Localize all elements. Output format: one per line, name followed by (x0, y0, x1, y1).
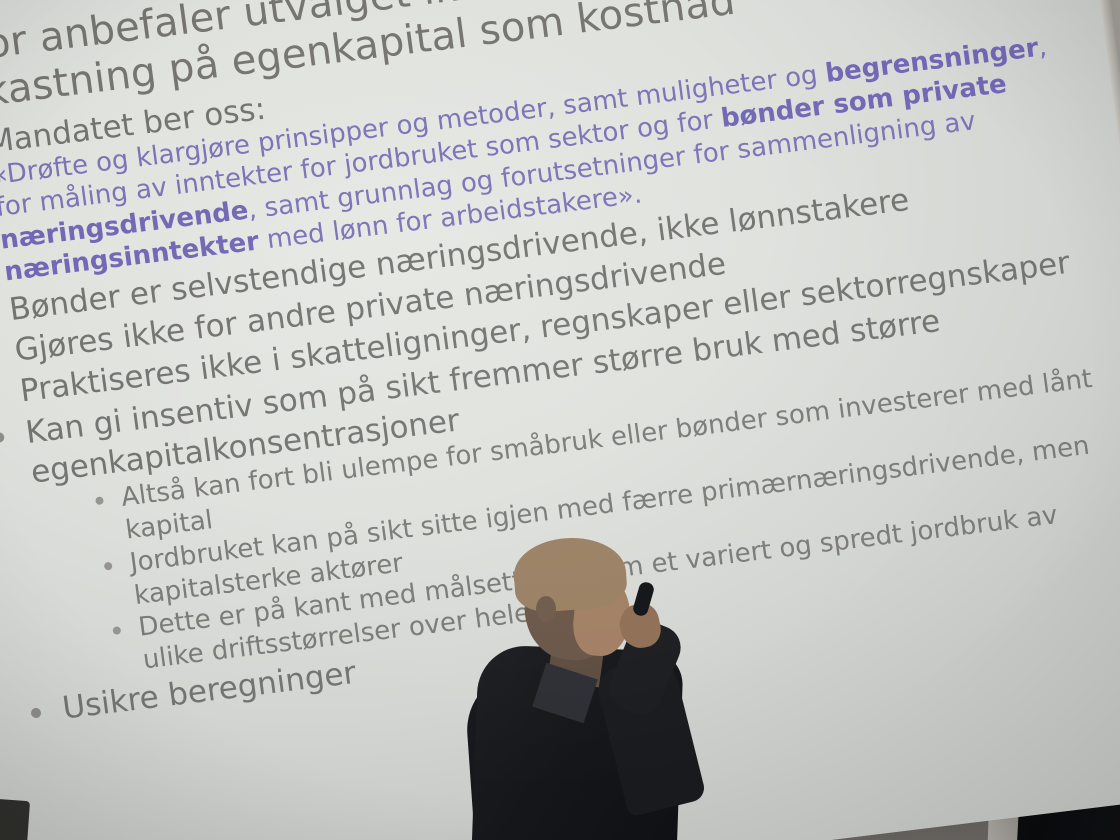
presenter-ear (536, 596, 556, 622)
presenter-hair (512, 534, 629, 614)
photo-scene: orfor anbefaler utvalget ikke å kostnads… (0, 0, 1120, 840)
presenter (470, 520, 770, 840)
floor-object (0, 799, 30, 840)
